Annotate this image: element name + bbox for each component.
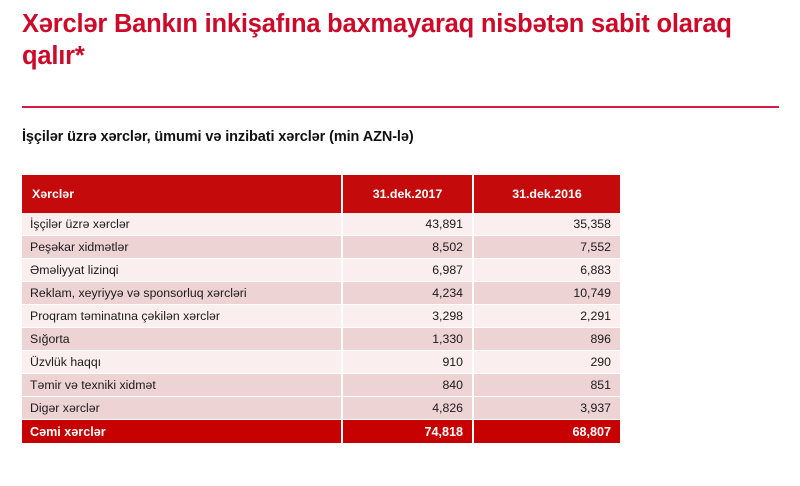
table-row: Digər xərclər 4,826 3,937 — [22, 397, 620, 420]
row-value-2017: 3,298 — [342, 305, 473, 328]
table-row: Peşəkar xidmətlər 8,502 7,552 — [22, 236, 620, 259]
column-header-label: Xərclər — [22, 175, 342, 213]
row-value-2017: 43,891 — [342, 213, 473, 236]
row-value-2016: 290 — [473, 351, 620, 374]
table-row: Təmir və texniki xidmət 840 851 — [22, 374, 620, 397]
row-value-2016: 851 — [473, 374, 620, 397]
row-value-2017: 840 — [342, 374, 473, 397]
table-row: Əməliyyat lizinqi 6,987 6,883 — [22, 259, 620, 282]
column-header-2016: 31.dek.2016 — [473, 175, 620, 213]
row-value-2016: 2,291 — [473, 305, 620, 328]
row-value-2017: 8,502 — [342, 236, 473, 259]
row-label: Peşəkar xidmətlər — [22, 236, 342, 259]
row-label: Təmir və texniki xidmət — [22, 374, 342, 397]
title-divider — [22, 106, 779, 108]
total-label: Cəmi xərclər — [22, 420, 342, 444]
page-title: Xərclər Bankın inkişafına baxmayaraq nis… — [22, 8, 772, 72]
row-value-2017: 6,987 — [342, 259, 473, 282]
slide-root: Xərclər Bankın inkişafına baxmayaraq nis… — [0, 0, 800, 486]
table-body: İşçilər üzrə xərclər 43,891 35,358 Peşək… — [22, 213, 620, 443]
row-value-2017: 1,330 — [342, 328, 473, 351]
row-label: Üzvlük haqqı — [22, 351, 342, 374]
table-row: Üzvlük haqqı 910 290 — [22, 351, 620, 374]
table-row: Sığorta 1,330 896 — [22, 328, 620, 351]
row-value-2017: 4,234 — [342, 282, 473, 305]
expenses-table: Xərclər 31.dek.2017 31.dek.2016 İşçilər … — [22, 175, 620, 443]
table-total-row: Cəmi xərclər 74,818 68,807 — [22, 420, 620, 444]
table-row: Reklam, xeyriyyə və sponsorluq xərcləri … — [22, 282, 620, 305]
row-value-2016: 10,749 — [473, 282, 620, 305]
row-label: Digər xərclər — [22, 397, 342, 420]
row-value-2017: 4,826 — [342, 397, 473, 420]
column-header-2017: 31.dek.2017 — [342, 175, 473, 213]
table-head: Xərclər 31.dek.2017 31.dek.2016 — [22, 175, 620, 213]
row-value-2016: 6,883 — [473, 259, 620, 282]
total-value-2016: 68,807 — [473, 420, 620, 444]
row-label: Proqram təminatına çəkilən xərclər — [22, 305, 342, 328]
table-row: İşçilər üzrə xərclər 43,891 35,358 — [22, 213, 620, 236]
table-header-row: Xərclər 31.dek.2017 31.dek.2016 — [22, 175, 620, 213]
row-value-2016: 896 — [473, 328, 620, 351]
table-caption: İşçilər üzrə xərclər, ümumi və inzibati … — [22, 129, 414, 145]
row-label: Reklam, xeyriyyə və sponsorluq xərcləri — [22, 282, 342, 305]
total-value-2017: 74,818 — [342, 420, 473, 444]
table-row: Proqram təminatına çəkilən xərclər 3,298… — [22, 305, 620, 328]
row-label: İşçilər üzrə xərclər — [22, 213, 342, 236]
row-value-2016: 35,358 — [473, 213, 620, 236]
row-label: Əməliyyat lizinqi — [22, 259, 342, 282]
row-value-2016: 3,937 — [473, 397, 620, 420]
row-label: Sığorta — [22, 328, 342, 351]
row-value-2016: 7,552 — [473, 236, 620, 259]
row-value-2017: 910 — [342, 351, 473, 374]
